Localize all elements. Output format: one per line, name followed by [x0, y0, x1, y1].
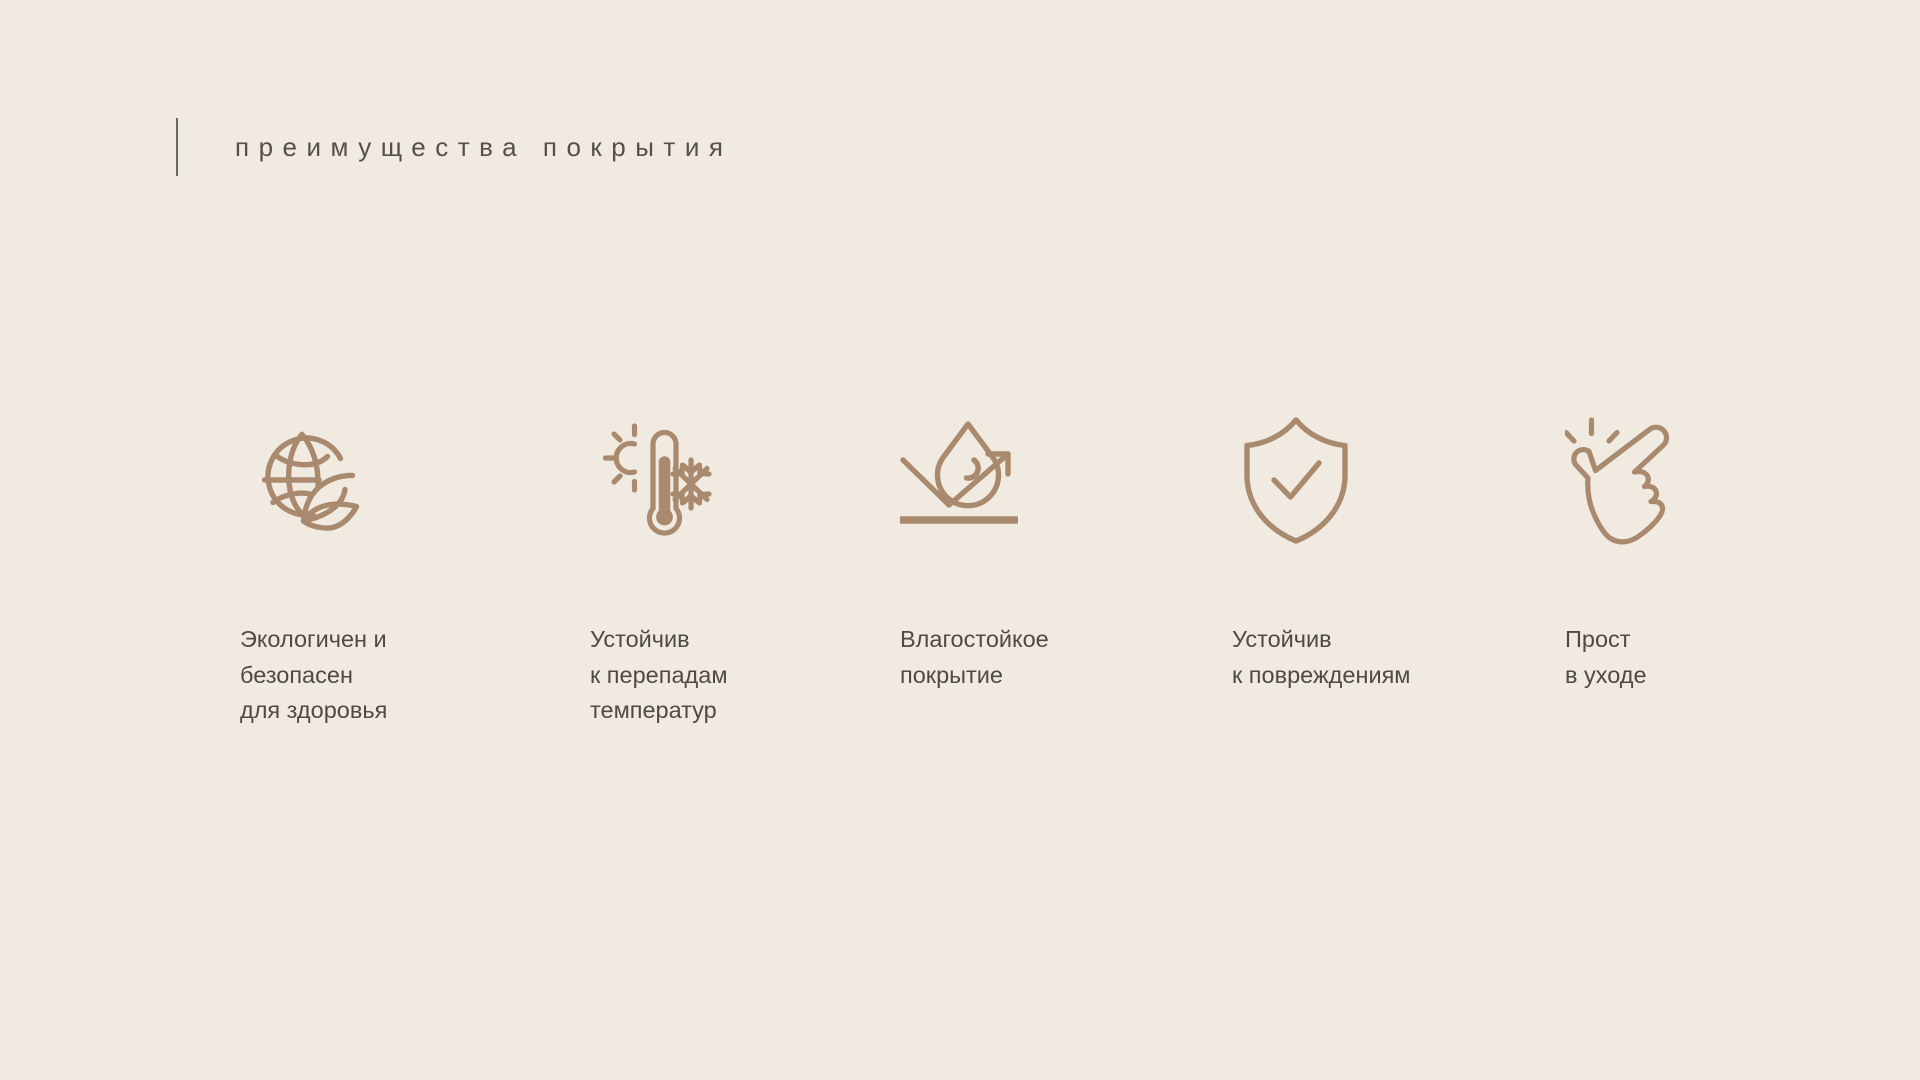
- title-accent-rule: [176, 118, 178, 176]
- thermometer-sun-snowflake-icon: [590, 410, 890, 560]
- features-row: Экологичен и безопасен для здоровья: [0, 410, 1920, 770]
- feature-item-temperature: Устойчив к перепадам температур: [590, 410, 890, 729]
- feature-caption: Устойчив к повреждениям: [1232, 622, 1532, 693]
- feature-caption: Влагостойкое покрытие: [900, 622, 1200, 693]
- feature-item-damage: Устойчив к повреждениям: [1232, 410, 1532, 693]
- feature-item-care: Прост в уходе: [1565, 410, 1865, 693]
- slide-root: преимущества покрытия: [0, 0, 1920, 1080]
- snapping-hand-icon: [1565, 410, 1865, 560]
- feature-item-moisture: Влагостойкое покрытие: [900, 410, 1200, 693]
- water-repellent-droplet-icon: [900, 410, 1200, 560]
- globe-leaf-icon: [240, 410, 540, 560]
- shield-check-icon: [1232, 410, 1532, 560]
- page-title-block: преимущества покрытия: [176, 118, 732, 176]
- page-title: преимущества покрытия: [235, 134, 732, 160]
- feature-item-eco: Экологичен и безопасен для здоровья: [240, 410, 540, 729]
- feature-caption: Прост в уходе: [1565, 622, 1865, 693]
- feature-caption: Экологичен и безопасен для здоровья: [240, 622, 540, 729]
- feature-caption: Устойчив к перепадам температур: [590, 622, 890, 729]
